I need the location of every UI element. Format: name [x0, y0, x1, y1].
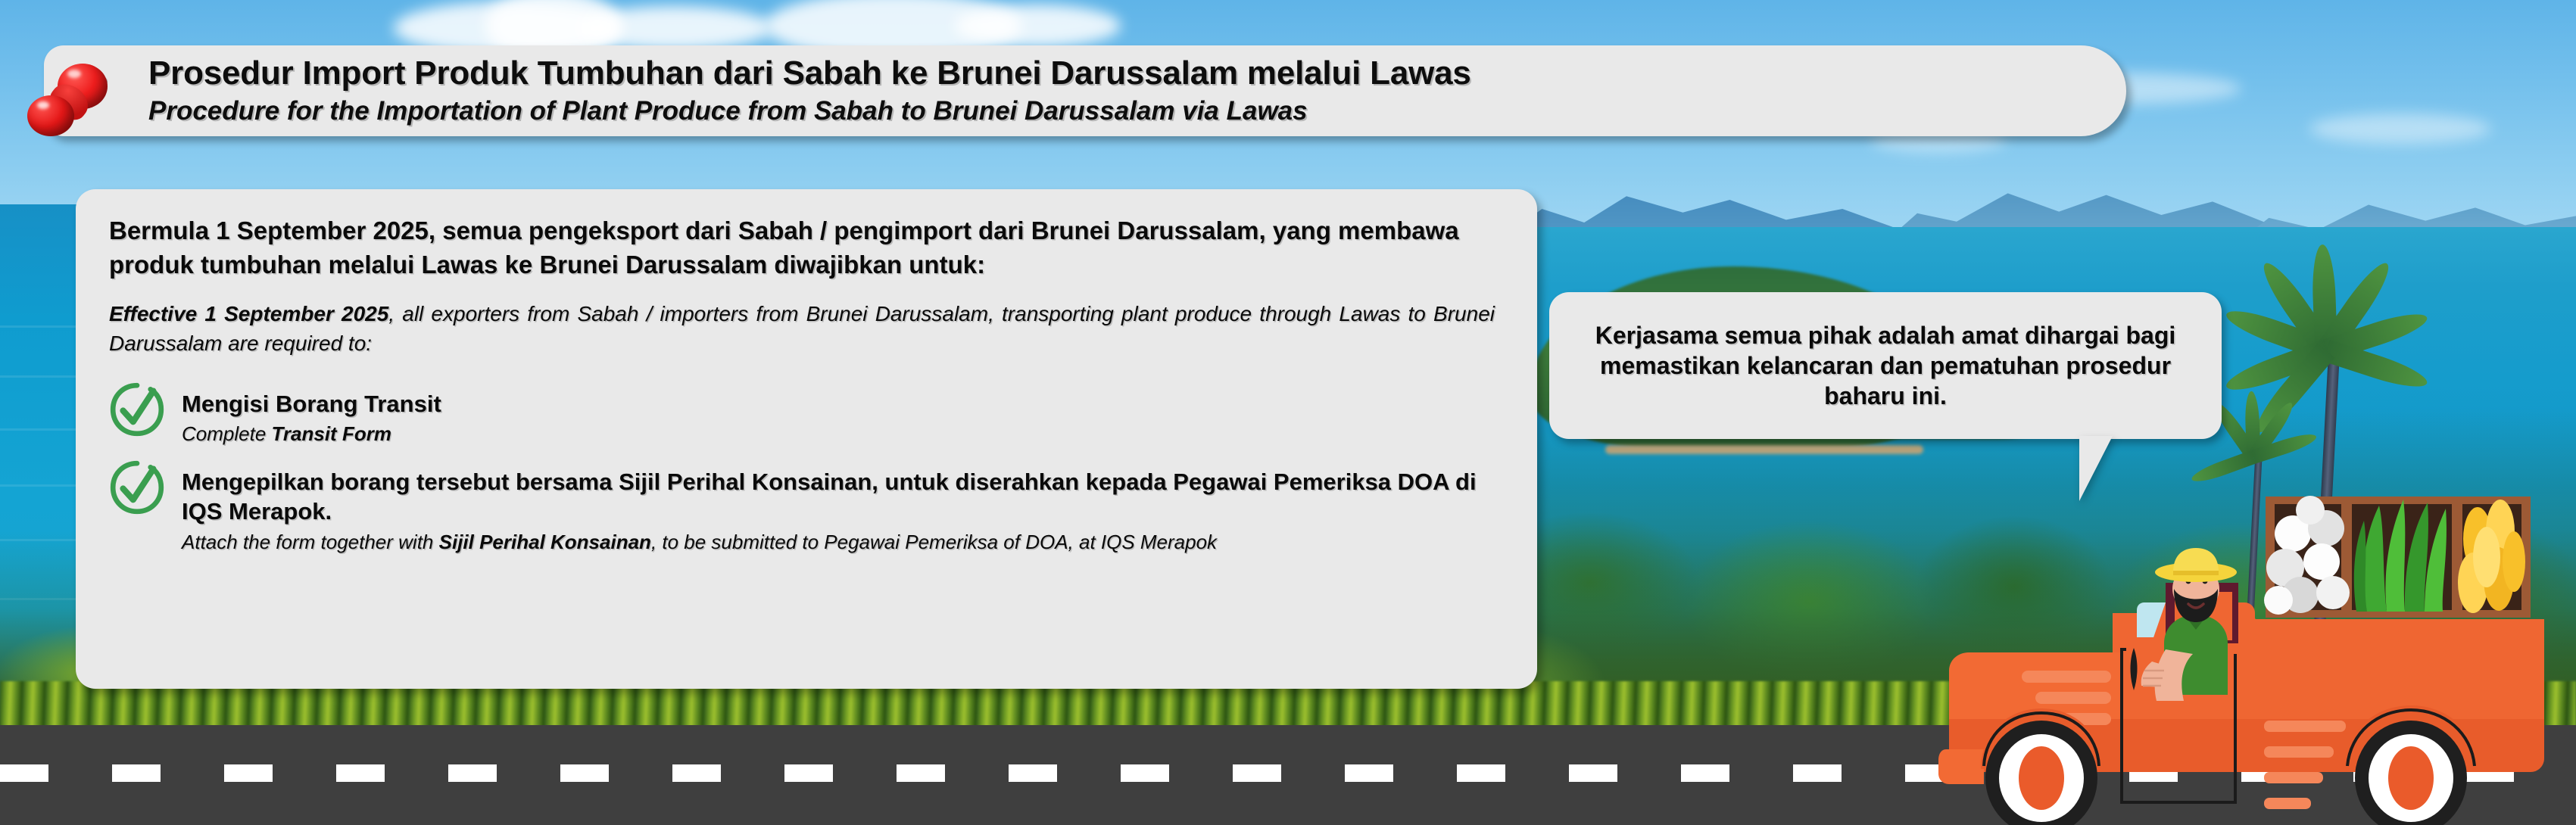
main-content-panel: Bermula 1 September 2025, semua pengeksp…: [76, 189, 1537, 689]
infographic-poster: Prosedur Import Produk Tumbuhan dari Sab…: [0, 0, 2576, 825]
palm-frond: [2190, 450, 2256, 486]
paragraph-english: Effective 1 September 2025, all exporter…: [109, 300, 1495, 358]
list-item-en-prefix: Attach the form together with: [182, 531, 439, 553]
list-item: Mengepilkan borang tersebut bersama Siji…: [109, 464, 1495, 556]
list-item-en-suffix: , to be submitted to Pegawai Pemeriksa o…: [651, 531, 1217, 553]
page-title: Prosedur Import Produk Tumbuhan dari Sab…: [148, 54, 2126, 92]
list-item-en-bold: Transit Form: [272, 422, 391, 445]
requirements-checklist: Mengisi Borang Transit Complete Transit …: [109, 386, 1495, 556]
paragraph-english-bold: Effective 1 September 2025: [109, 302, 388, 325]
speech-bubble-text: Kerjasama semua pihak adalah amat diharg…: [1569, 320, 2202, 412]
title-banner: Prosedur Import Produk Tumbuhan dari Sab…: [44, 45, 2126, 136]
pushpin-icon: [27, 54, 115, 142]
list-item-text: Mengisi Borang Transit Complete Transit …: [182, 386, 441, 447]
speech-bubble: Kerjasama semua pihak adalah amat diharg…: [1549, 292, 2222, 439]
page-subtitle: Procedure for the Importation of Plant P…: [148, 95, 2126, 127]
cloud-icon: [954, 5, 1121, 47]
list-item-label-english: Attach the form together with Sijil Peri…: [182, 530, 1495, 556]
list-item: Mengisi Borang Transit Complete Transit …: [109, 386, 1495, 447]
list-item-text: Mengepilkan borang tersebut bersama Siji…: [182, 464, 1495, 556]
paragraph-malay-bold: Bermula 1 September 2025,: [109, 216, 435, 244]
green-check-circle-icon: [109, 459, 165, 515]
orange-pickup-truck-icon: [1938, 492, 2574, 825]
cloud-icon: [2309, 114, 2491, 144]
list-item-en-bold: Sijil Perihal Konsainan: [439, 531, 651, 553]
pushpin-front-bead: [27, 95, 74, 136]
list-item-en-prefix: Complete: [182, 422, 272, 445]
green-check-circle-icon: [109, 381, 165, 437]
list-item-label-malay: Mengisi Borang Transit: [182, 389, 441, 419]
list-item-label-english: Complete Transit Form: [182, 422, 441, 447]
paragraph-malay: Bermula 1 September 2025, semua pengeksp…: [109, 213, 1495, 282]
list-item-label-malay: Mengepilkan borang tersebut bersama Siji…: [182, 467, 1495, 527]
cloud-icon: [575, 6, 772, 50]
